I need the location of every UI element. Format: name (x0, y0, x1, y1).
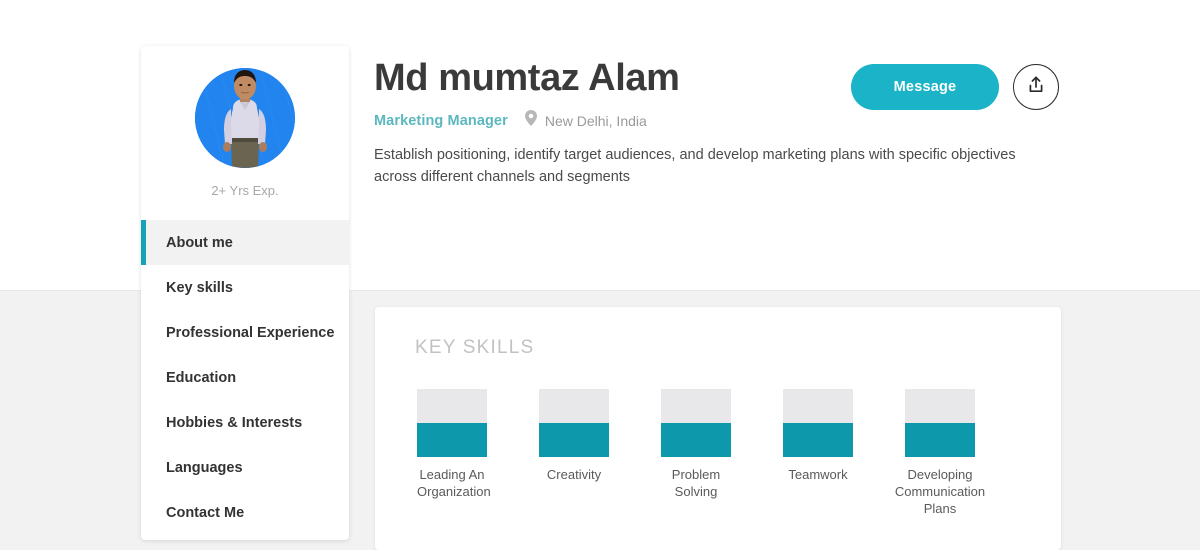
skill-item[interactable]: Leading An Organization (417, 389, 487, 517)
skill-item[interactable]: Problem Solving (661, 389, 731, 517)
message-button[interactable]: Message (851, 64, 999, 110)
header-actions: Message (851, 64, 1059, 110)
share-button[interactable] (1013, 64, 1059, 110)
skill-label: Leading An Organization (417, 466, 487, 500)
sidebar-item-key-skills[interactable]: Key skills (141, 265, 349, 310)
profile-page: Md mumtaz Alam Marketing Manager New Del… (0, 0, 1200, 550)
sidebar-nav: About me Key skills Professional Experie… (141, 220, 349, 535)
skill-item[interactable]: Creativity (539, 389, 609, 517)
experience-text: 2+ Yrs Exp. (141, 183, 349, 198)
skill-label: Problem Solving (661, 466, 731, 500)
section-title: KEY SKILLS (415, 337, 1021, 359)
sidebar: 2+ Yrs Exp. About me Key skills Professi… (141, 46, 349, 540)
skill-label: Teamwork (783, 466, 853, 483)
skill-bar-track (417, 389, 487, 457)
profile-bio: Establish positioning, identify target a… (374, 144, 1046, 189)
avatar-block: 2+ Yrs Exp. (141, 46, 349, 198)
skill-bar-fill (417, 423, 487, 457)
sidebar-item-label: Professional Experience (166, 325, 334, 341)
profile-meta-row: Marketing Manager New Delhi, India (374, 112, 1064, 130)
skill-bar-fill (783, 423, 853, 457)
skill-bar-track (539, 389, 609, 457)
sidebar-item-label: Education (166, 370, 236, 386)
sidebar-item-contact-me[interactable]: Contact Me (141, 490, 349, 535)
skill-item[interactable]: Developing Communication Plans (905, 389, 975, 517)
map-pin-icon (525, 110, 537, 131)
sidebar-item-professional-experience[interactable]: Professional Experience (141, 310, 349, 355)
skill-label: Creativity (539, 466, 609, 483)
share-upload-icon (1026, 75, 1046, 100)
skill-label: Developing Communication Plans (885, 466, 995, 517)
skill-bar-track (661, 389, 731, 457)
location-group: New Delhi, India (525, 110, 647, 131)
sidebar-item-languages[interactable]: Languages (141, 445, 349, 490)
skills-chart: Leading An Organization Creativity Probl… (415, 389, 1021, 517)
skill-bar-track (905, 389, 975, 457)
sidebar-item-label: About me (166, 235, 233, 251)
key-skills-card: KEY SKILLS Leading An Organization Creat… (375, 307, 1061, 550)
sidebar-item-about-me[interactable]: About me (141, 220, 349, 265)
sidebar-item-education[interactable]: Education (141, 355, 349, 400)
job-title: Marketing Manager (374, 113, 508, 129)
skill-item[interactable]: Teamwork (783, 389, 853, 517)
skill-bar-fill (905, 423, 975, 457)
skill-bar-track (783, 389, 853, 457)
sidebar-item-label: Hobbies & Interests (166, 415, 302, 431)
location-text: New Delhi, India (545, 113, 647, 129)
avatar (195, 68, 295, 168)
skill-bar-fill (661, 423, 731, 457)
sidebar-item-label: Key skills (166, 280, 233, 296)
sidebar-item-label: Languages (166, 460, 243, 476)
sidebar-item-label: Contact Me (166, 505, 244, 521)
sidebar-item-hobbies-interests[interactable]: Hobbies & Interests (141, 400, 349, 445)
skill-bar-fill (539, 423, 609, 457)
